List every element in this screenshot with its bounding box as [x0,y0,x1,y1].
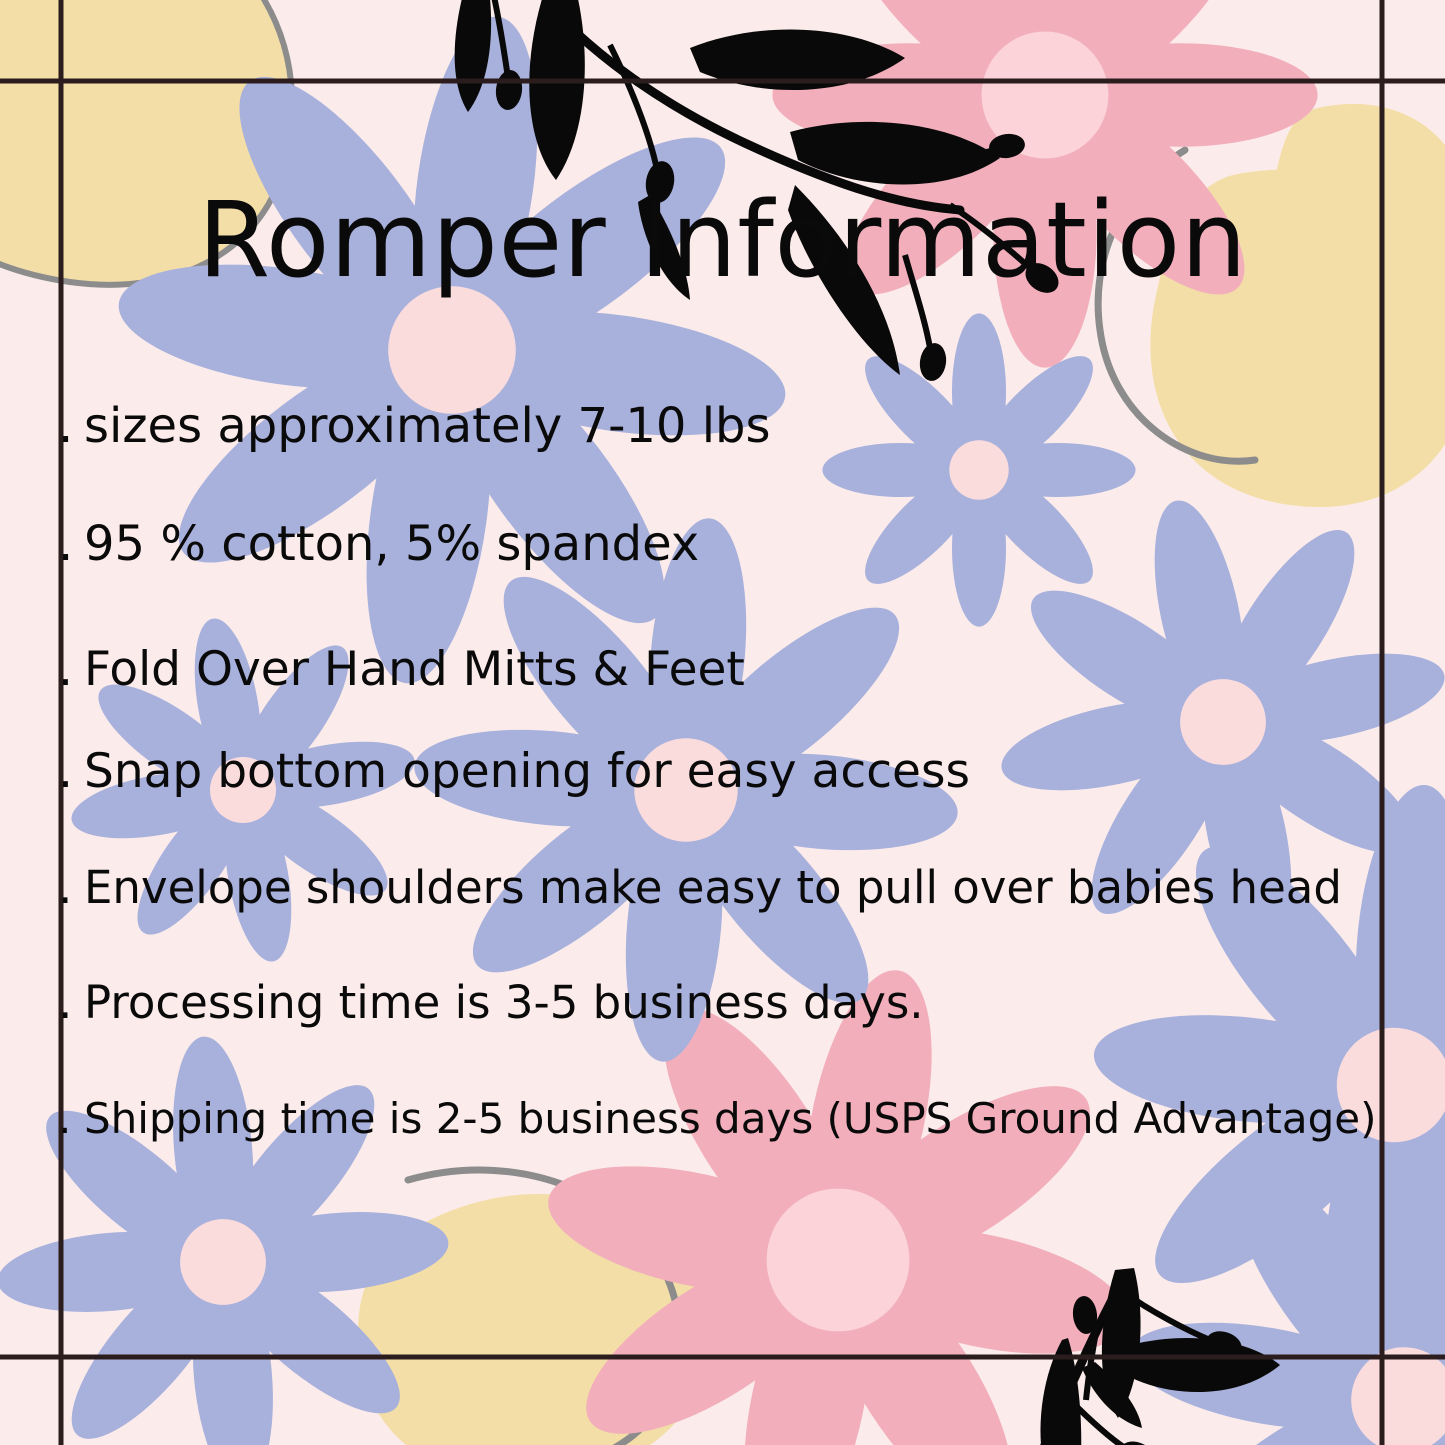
list-item: . sizes approximately 7-10 lbs [58,398,1428,454]
list-item-label: sizes approximately 7-10 lbs [84,398,771,454]
bullet-marker: . [58,398,84,454]
list-item: . Fold Over Hand Mitts & Feet [58,642,1428,697]
list-item-label: Fold Over Hand Mitts & Feet [84,642,745,697]
poster-canvas: Romper Information . sizes approximately… [0,0,1445,1445]
list-item-label: 95 % cotton, 5% spandex [84,516,699,572]
list-item: . Envelope shoulders make easy to pull o… [58,861,1428,914]
bullet-marker: . [58,516,84,572]
bullet-marker: . [58,744,84,799]
list-item: . Shipping time is 2-5 business days (US… [58,1094,1428,1143]
poster-content: Romper Information . sizes approximately… [0,0,1445,1445]
bullet-marker: . [58,1094,84,1143]
info-bullet-list: . sizes approximately 7-10 lbs . 95 % co… [58,398,1428,1143]
list-item: . Snap bottom opening for easy access [58,744,1428,799]
list-item: . 95 % cotton, 5% spandex [58,516,1428,572]
page-title: Romper Information [0,186,1445,295]
list-item-label: Shipping time is 2-5 business days (USPS… [84,1094,1376,1143]
list-item-label: Processing time is 3-5 business days. [84,976,924,1029]
bullet-marker: . [58,642,84,697]
bullet-marker: . [58,861,84,914]
list-item-label: Envelope shoulders make easy to pull ove… [84,861,1342,914]
list-item-label: Snap bottom opening for easy access [84,744,970,799]
list-item: . Processing time is 3-5 business days. [58,976,1428,1029]
bullet-marker: . [58,976,84,1029]
